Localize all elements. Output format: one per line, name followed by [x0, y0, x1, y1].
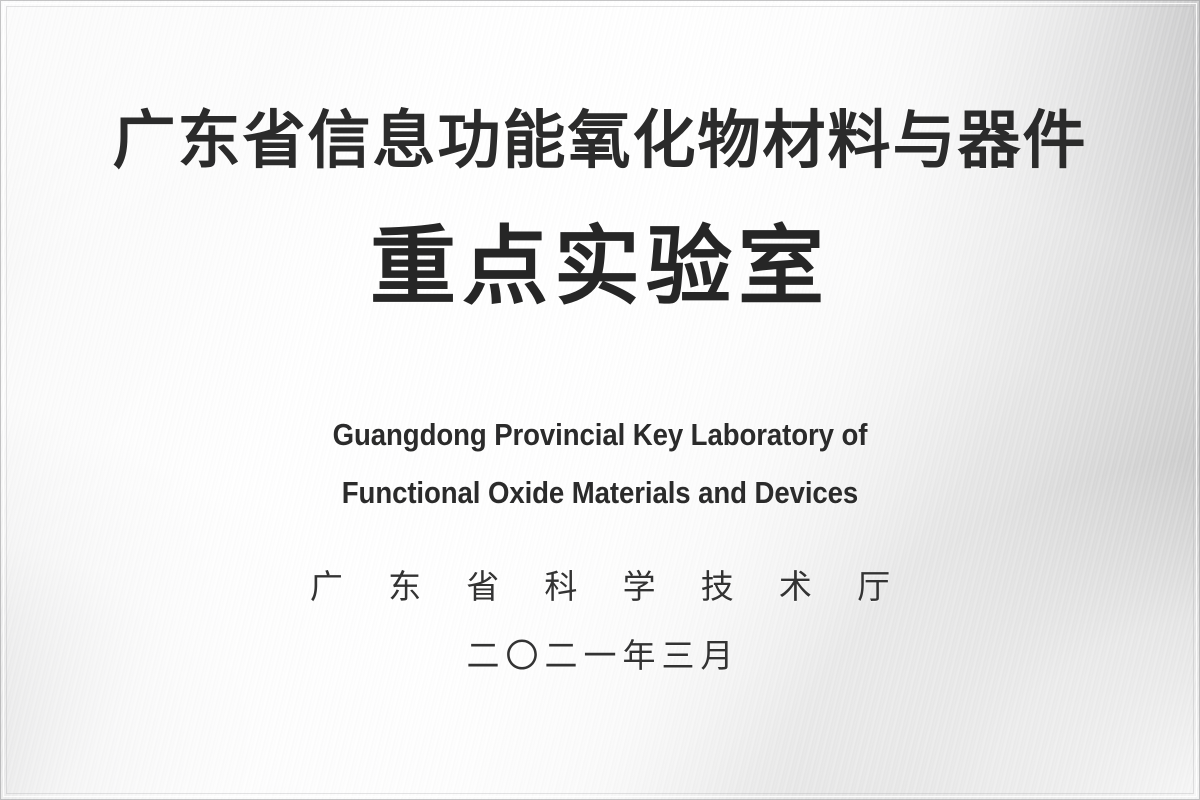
issuing-authority-label: 广 东 省 科 学 技 术 厅: [0, 570, 1200, 603]
laboratory-name-chinese-line1: 广东省信息功能氧化物材料与器件: [0, 110, 1200, 173]
laboratory-name-english-line1: Guangdong Provincial Key Laboratory of: [66, 419, 1134, 450]
plaque-text-block: 广东省信息功能氧化物材料与器件 重点实验室 Guangdong Provinci…: [0, 0, 1200, 800]
laboratory-name-chinese-line2: 重点实验室: [0, 224, 1200, 310]
laboratory-name-english-line2: Functional Oxide Materials and Devices: [66, 477, 1134, 508]
plaque-sign: 广东省信息功能氧化物材料与器件 重点实验室 Guangdong Provinci…: [0, 0, 1200, 800]
issue-date-label: 二〇二一年三月: [0, 639, 1200, 672]
